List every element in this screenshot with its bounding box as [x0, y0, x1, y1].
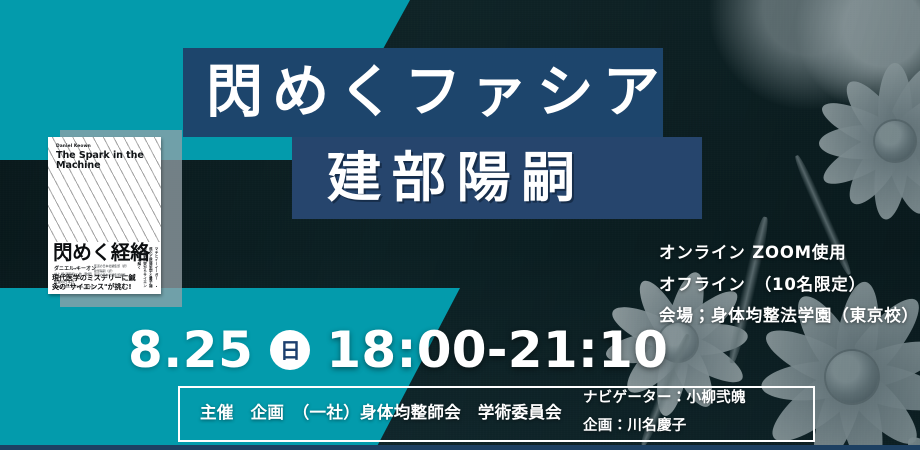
page-title: 閃めくファシア — [206, 64, 669, 121]
book-cover-band: 閃めく経絡 ダニエル・キーオン 井上 悠・澤田和一 他（監訳） 医道の日本社 I… — [48, 242, 161, 294]
book-credit-line-1: 医道の日本社編集部（訳） — [94, 264, 129, 269]
event-poster: Daniel Keown The Spark in the Machine 閃め… — [0, 0, 920, 450]
info-line-online: オンライン ZOOM使用 — [659, 245, 919, 262]
book-cover: Daniel Keown The Spark in the Machine 閃め… — [48, 137, 161, 294]
staff-credits: ナビゲーター：小柳弐魄 企画：川名慶子 — [583, 391, 746, 446]
book-title-en: The Spark in the Machine — [56, 151, 148, 171]
credit-planner: 企画：川名慶子 — [583, 419, 746, 434]
event-info-list: オンライン ZOOM使用 オフライン （10名限定） 会場；身体均整法学園（東京… — [659, 245, 919, 340]
host-organization: 主催 企画 （一社）身体均整師会 学術委員会 — [200, 405, 562, 422]
schedule-row: 8.25 日 18:00-21:10 — [128, 325, 668, 375]
book-author-ja: ダニエル・キーオン — [54, 265, 96, 272]
day-of-week-badge: 日 — [270, 330, 310, 370]
info-line-venue: 会場；身体均整法学園（東京校） — [659, 308, 919, 325]
book-side-blurb: マチとイーイーガー ・ 進化と胚発生学と量子論の最新研究からサイエンスが読み解く — [137, 247, 159, 291]
speaker-name: 建部陽嗣 — [327, 151, 586, 205]
speaker-name-banner: 建部陽嗣 — [292, 137, 702, 219]
event-date: 8.25 — [128, 325, 253, 375]
credit-navigator: ナビゲーター：小柳弐魄 — [583, 391, 746, 406]
main-title-banner: 閃めくファシア — [183, 48, 663, 137]
info-line-offline: オフライン （10名限定） — [659, 277, 919, 294]
bottom-accent-rule — [0, 445, 920, 450]
book-title-ja: 閃めく経絡 — [53, 243, 150, 263]
event-time: 18:00-21:10 — [326, 325, 668, 375]
book-author-en: Daniel Keown — [56, 144, 91, 149]
book-obi-tagline: 現代医学のミステリーに鍼灸の"サイエンス"が挑む! — [52, 274, 138, 292]
